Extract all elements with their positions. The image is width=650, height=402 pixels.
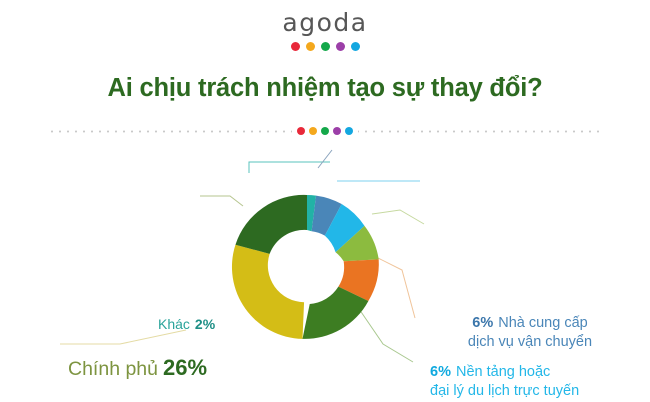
label-government-text: Chính phủ <box>68 358 158 380</box>
divider-dot-blue-icon <box>345 127 353 135</box>
label-ota-pct: 6% <box>430 364 451 380</box>
leader-line-individual <box>355 303 413 362</box>
brand-dot-purple-icon <box>336 42 345 51</box>
divider-dots <box>292 127 358 135</box>
brand-dots <box>0 42 650 51</box>
slice-tourism-authority[interactable] <box>232 245 304 339</box>
donut-slices <box>232 195 379 339</box>
label-government-pct: 26% <box>163 355 207 380</box>
label-khac-pct: 2% <box>195 316 215 332</box>
label-transport-pct: 6% <box>472 315 493 331</box>
brand-dot-orange-icon <box>306 42 315 51</box>
divider-dash-right <box>358 130 602 133</box>
divider-dot-purple-icon <box>333 127 341 135</box>
label-ota: 6%Nền tảng hoặc đại lý du lịch trực tuyế… <box>430 363 579 401</box>
agoda-logo-wordmark: agoda <box>0 10 650 35</box>
label-transport-line2: dịch vụ vận chuyển <box>468 334 592 350</box>
leader-line-transport <box>318 150 332 168</box>
label-ota-line1: Nền tảng hoặc <box>456 364 550 380</box>
label-transport: 6%Nhà cung cấp dịch vụ vận chuyển <box>455 314 605 352</box>
brand-dot-red-icon <box>291 42 300 51</box>
leader-line-government <box>200 196 243 206</box>
infographic-page: agoda Ai chịu trách nhiệm tạo sự thay đổ… <box>0 0 650 402</box>
divider-dash-left <box>48 130 292 133</box>
brand-dot-blue-icon <box>351 42 360 51</box>
label-transport-line1: Nhà cung cấp <box>498 315 587 331</box>
label-government: Chính phủ26% <box>68 353 207 383</box>
brand-header: agoda <box>0 10 650 51</box>
label-khac: Khác2% <box>158 315 215 333</box>
leader-line-tour <box>378 258 415 318</box>
chart-area: Khác2% Chính phủ26% Cơ quan quản lý du l… <box>0 148 650 402</box>
brand-dot-green-icon <box>321 42 330 51</box>
divider-dot-orange-icon <box>309 127 317 135</box>
slice-government[interactable] <box>235 195 307 254</box>
divider <box>48 125 602 137</box>
label-ota-line2: đại lý du lịch trực tuyến <box>430 383 579 399</box>
divider-dot-red-icon <box>297 127 305 135</box>
page-title: Ai chịu trách nhiệm tạo sự thay đổi? <box>0 74 650 103</box>
leader-line-accommodation <box>372 210 424 224</box>
divider-dot-green-icon <box>321 127 329 135</box>
label-khac-text: Khác <box>158 316 190 332</box>
